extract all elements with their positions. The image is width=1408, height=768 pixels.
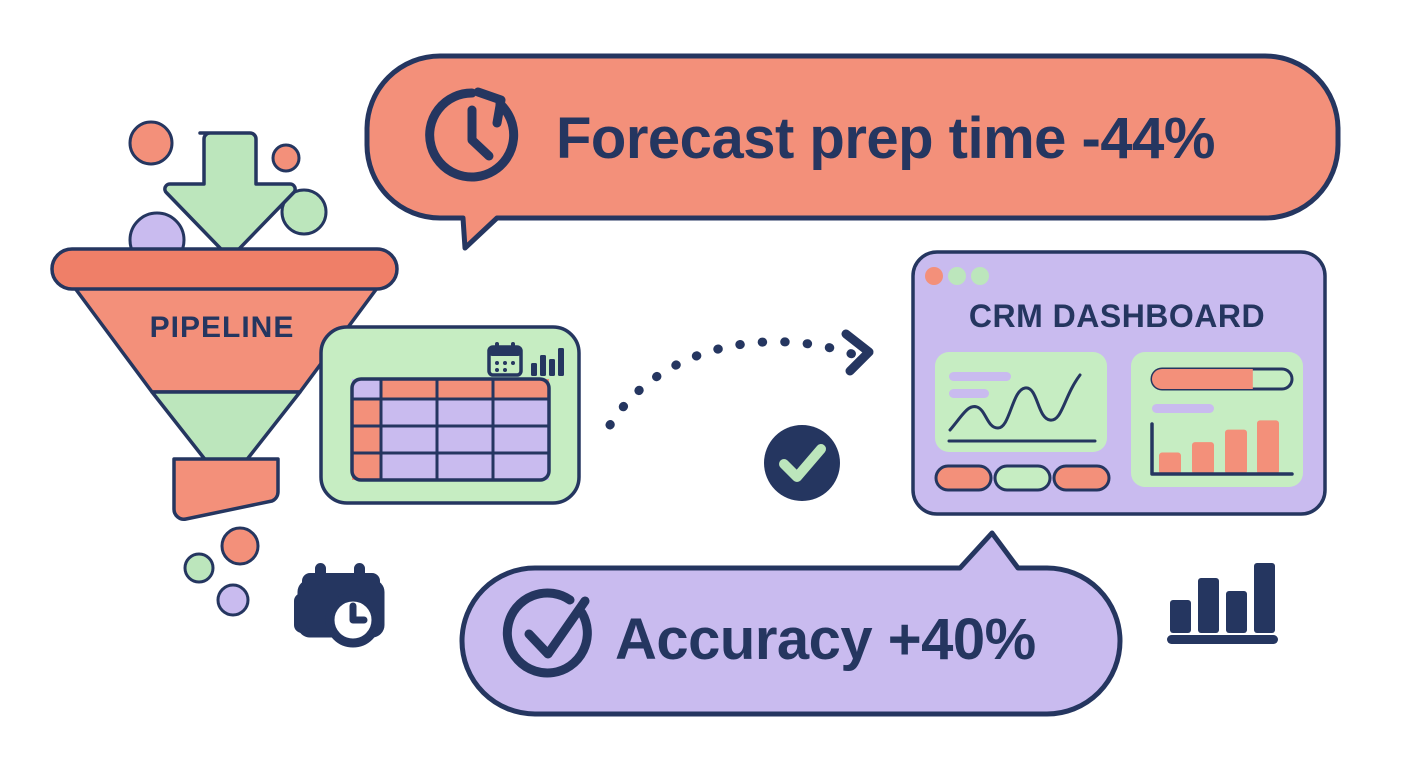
metrics-bar-2 — [1192, 442, 1214, 474]
dotted-curved-arrow-icon — [610, 334, 869, 425]
trend-placeholder-bar-1 — [949, 372, 1011, 381]
window-dot-green-1[interactable] — [948, 267, 966, 285]
metrics-card[interactable] — [1131, 352, 1303, 487]
table-row — [381, 426, 549, 453]
table-row-header-cell — [352, 399, 381, 426]
metrics-placeholder-bar — [1152, 404, 1214, 413]
table-header-cell — [381, 379, 437, 399]
calendar-clock-icon — [294, 563, 380, 643]
dashboard-pill-1[interactable] — [936, 466, 991, 490]
funnel-stem — [174, 459, 278, 519]
table-header-cell — [437, 379, 493, 399]
metrics-bar-4 — [1257, 420, 1279, 474]
funnel-rim — [52, 249, 397, 289]
funnel-label: PIPELINE — [150, 311, 295, 344]
crm-dashboard-window[interactable]: CRM DASHBOARD — [913, 252, 1325, 514]
spreadsheet-card[interactable] — [321, 327, 579, 503]
bar-chart-icon — [1167, 563, 1278, 644]
table-row-header-cell — [352, 426, 381, 453]
funnel-middle-section — [152, 392, 300, 462]
table-row — [381, 399, 549, 426]
infographic-illustration: PIPELINE — [0, 0, 1408, 768]
trend-card-panel — [935, 352, 1107, 452]
callout-forecast-prep-time[interactable]: Forecast prep time -44% — [367, 56, 1338, 248]
callout-accuracy[interactable]: Accuracy +40% — [462, 533, 1120, 714]
callout-forecast-label: Forecast prep time -44% — [556, 106, 1215, 171]
success-check-badge — [764, 425, 840, 501]
callout-accuracy-label: Accuracy +40% — [615, 607, 1036, 672]
badge-circle — [764, 425, 840, 501]
window-dot-green-2[interactable] — [971, 267, 989, 285]
trend-card[interactable] — [935, 352, 1107, 452]
dot-salmon-small-top — [273, 145, 299, 171]
window-dot-red[interactable] — [925, 267, 943, 285]
dot-salmon-bottom — [222, 528, 258, 564]
dot-mint-bottom — [185, 554, 213, 582]
dot-lavender-bottom — [218, 585, 248, 615]
dashboard-pill-2[interactable] — [995, 466, 1050, 490]
metrics-bar-1 — [1159, 453, 1181, 474]
dashboard-title: CRM DASHBOARD — [969, 298, 1265, 334]
table-row-header-cell — [352, 453, 381, 480]
dot-salmon-top-left — [130, 122, 172, 164]
table-header-cell — [493, 379, 549, 399]
metrics-bar-3 — [1225, 430, 1247, 474]
infographic-canvas: PIPELINE — [0, 0, 1408, 768]
dashboard-pill-3[interactable] — [1054, 466, 1109, 490]
trend-placeholder-bar-2 — [949, 389, 989, 398]
spreadsheet-table — [352, 379, 549, 480]
table-row — [381, 453, 549, 480]
progress-bar-fill — [1152, 369, 1253, 389]
